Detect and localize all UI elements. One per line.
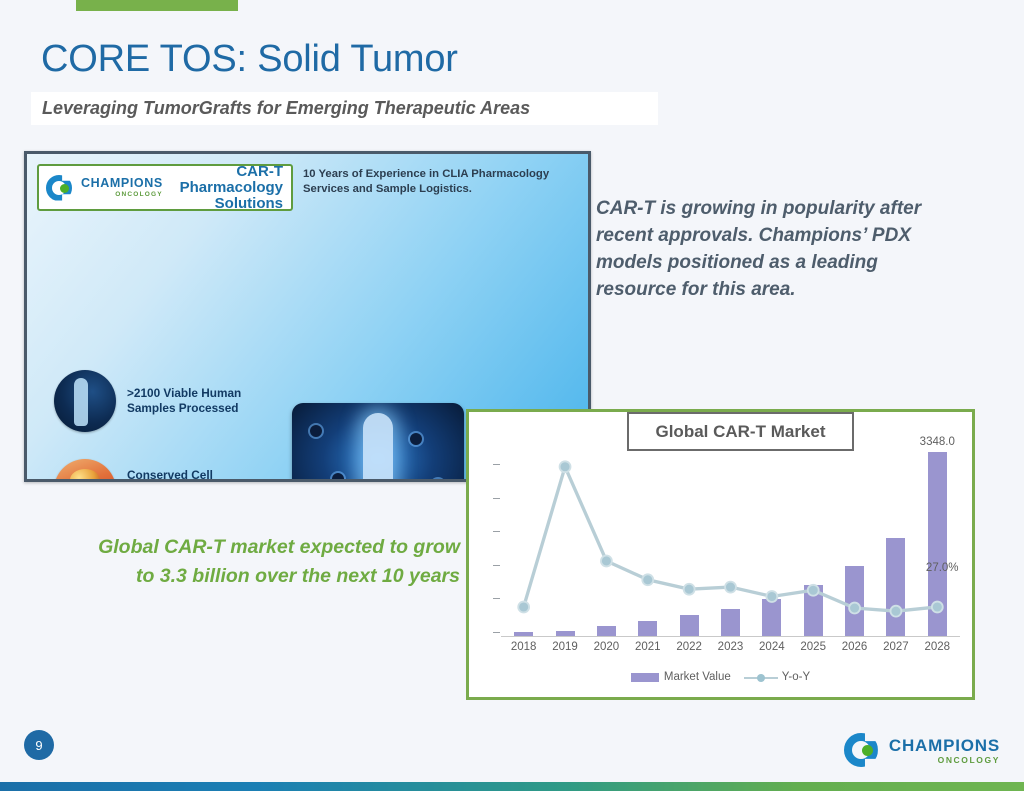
x-axis-label: 2021	[627, 641, 668, 659]
subtitle-text: Leveraging TumorGrafts for Emerging Ther…	[31, 98, 530, 119]
x-axis-labels: 2018201920202021202220232024202520262027…	[503, 641, 958, 659]
global-cart-market-chart: 3348.027.0% 2018201920202021202220232024…	[466, 409, 975, 700]
page-title: CORE TOS: Solid Tumor	[41, 38, 458, 81]
cart-bullet-2: Conserved Cell Surface Expression and He…	[54, 459, 251, 482]
x-axis-label: 2020	[586, 641, 627, 659]
x-axis-label: 2027	[875, 641, 916, 659]
legend-item-market-value: Market Value	[631, 671, 731, 683]
y-axis-ticks	[489, 436, 501, 637]
subtitle-box: Leveraging TumorGrafts for Emerging Ther…	[31, 92, 658, 125]
immune-system-image	[292, 403, 464, 482]
cart-header-box: CHAMPIONS ONCOLOGY CAR-T Pharmacology So…	[37, 164, 293, 211]
x-axis-label: 2023	[710, 641, 751, 659]
footer-logo-wordmark: CHAMPIONS ONCOLOGY	[889, 737, 1000, 765]
footer-brand-name: CHAMPIONS	[889, 737, 1000, 754]
cart-bullet-1: >2100 Viable Human Samples Processed	[54, 370, 255, 432]
chart-title-box: Global CAR-T Market	[627, 412, 854, 451]
chart-legend: Market Value Y-o-Y	[469, 669, 972, 685]
line-series	[503, 436, 958, 664]
brand-name: CHAMPIONS	[81, 177, 163, 190]
cart-experience-text: 10 Years of Experience in CLIA Pharmacol…	[303, 167, 579, 197]
x-axis-label: 2028	[917, 641, 958, 659]
legend-bar-swatch	[631, 673, 659, 682]
legend-line-marker	[744, 673, 778, 682]
legend-label-market-value: Market Value	[664, 671, 731, 683]
champions-logo-icon	[46, 173, 80, 203]
footer-brand-sub: ONCOLOGY	[889, 756, 1000, 765]
chart-title-text: Global CAR-T Market	[655, 422, 825, 442]
green-callout-text: Global CAR-T market expected to grow to …	[95, 533, 460, 591]
champions-logo-icon	[844, 731, 888, 771]
legend-label-yoy: Y-o-Y	[782, 671, 810, 683]
x-axis-label: 2025	[793, 641, 834, 659]
page-number-badge: 9	[24, 730, 54, 760]
legend-item-yoy: Y-o-Y	[744, 671, 810, 683]
x-axis-label: 2022	[668, 641, 709, 659]
x-axis-label: 2024	[751, 641, 792, 659]
x-axis-label: 2018	[503, 641, 544, 659]
footer-champions-logo: CHAMPIONS ONCOLOGY	[844, 731, 1000, 771]
cart-bullet-2-label: Conserved Cell Surface Expression and He…	[127, 468, 251, 483]
cart-bullet-1-label: >2100 Viable Human Samples Processed	[127, 386, 255, 416]
human-body-icon	[54, 370, 116, 432]
top-accent-bar	[76, 0, 238, 11]
champions-logo-wordmark: CHAMPIONS ONCOLOGY	[81, 177, 163, 198]
x-axis-label: 2019	[544, 641, 585, 659]
footer-gradient-bar	[0, 782, 1024, 791]
chart-plot-area: 3348.027.0%	[489, 436, 960, 637]
cell-surface-icon	[54, 459, 116, 482]
brand-sub: ONCOLOGY	[81, 192, 163, 199]
cart-solutions-title: CAR-T Pharmacology Solutions	[163, 164, 291, 212]
body-note-text: CAR-T is growing in popularity after rec…	[596, 195, 956, 303]
x-axis-label: 2026	[834, 641, 875, 659]
